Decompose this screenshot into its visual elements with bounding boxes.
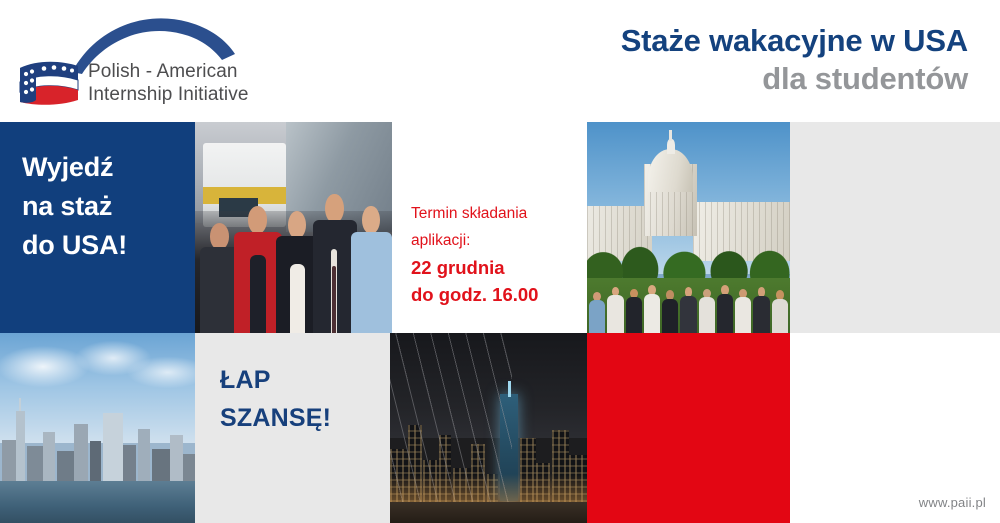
deadline-text: Termin składania aplikacji: 22 grudnia d…: [411, 200, 538, 308]
deadline-date: 22 grudnia: [411, 254, 538, 281]
cta-line-3: do USA!: [22, 226, 127, 265]
page-subtitle: dla studentów: [621, 60, 968, 98]
tile-group-photo: [195, 122, 392, 333]
deadline-time: do godz. 16.00: [411, 281, 538, 308]
cta-line-1: Wyjedź: [22, 148, 127, 187]
paii-flag-icon: [14, 50, 86, 112]
page-title: Staże wakacyjne w USA: [621, 22, 968, 60]
manhattan-skyline-night-photo: [390, 333, 587, 523]
cta-line-2: na staż: [22, 187, 127, 226]
chance-line-2: SZANSĘ!: [220, 399, 331, 437]
logo-line-2: Internship Initiative: [88, 83, 249, 106]
manhattan-skyline-day-photo: [0, 333, 195, 523]
logo-wordmark: Polish - American Internship Initiative: [88, 60, 249, 106]
poster-header: Polish - American Internship Initiative …: [0, 0, 1000, 122]
students-street-photo: [195, 122, 392, 333]
promotional-poster: Polish - American Internship Initiative …: [0, 0, 1000, 523]
tile-skyline-day-photo: [0, 333, 195, 523]
tile-capitol-photo: [587, 122, 790, 333]
tile-application-deadline: Termin składania aplikacji: 22 grudnia d…: [392, 122, 587, 333]
tile-seize-chance: ŁAP SZANSĘ!: [195, 333, 390, 523]
chance-line-1: ŁAP: [220, 361, 331, 399]
website-url[interactable]: www.paii.pl: [919, 495, 986, 510]
deadline-line-1: Termin składania: [411, 200, 538, 227]
tile-skyline-night-photo: [390, 333, 587, 523]
tile-call-to-action: Wyjedź na staż do USA!: [0, 122, 195, 333]
deadline-line-2: aplikacji:: [411, 227, 538, 254]
tile-website-url: www.paii.pl: [790, 333, 1000, 523]
logo-line-1: Polish - American: [88, 60, 249, 83]
tile-red-block: [587, 333, 790, 523]
chance-text: ŁAP SZANSĘ!: [220, 361, 331, 437]
header-titles: Staże wakacyjne w USA dla studentów: [621, 22, 968, 98]
cta-text: Wyjedź na staż do USA!: [22, 148, 127, 265]
organization-logo: Polish - American Internship Initiative: [14, 12, 314, 112]
us-capitol-group-photo: [587, 122, 790, 333]
tile-gray-spacer-right: [790, 122, 1000, 333]
